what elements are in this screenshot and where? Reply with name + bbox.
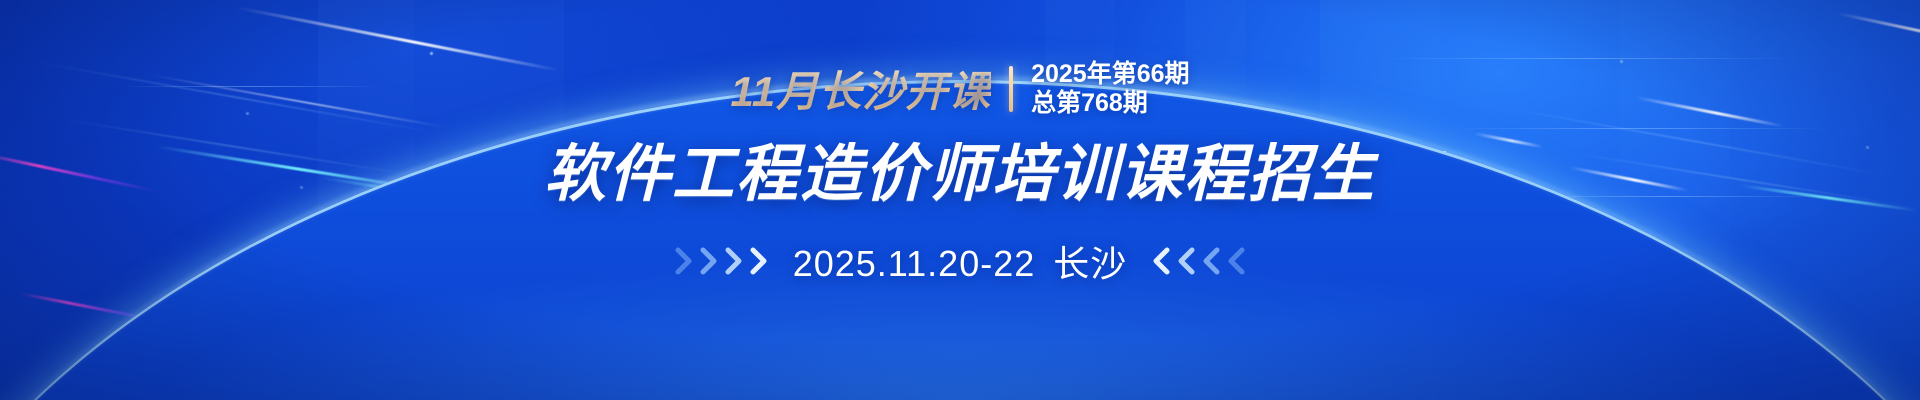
course-promo-banner: # 11月长沙开课 2025年第66期 总第768期 软件工程造价师培训课程招生 bbox=[0, 0, 1920, 400]
event-date: 2025.11.20-22 bbox=[793, 243, 1036, 284]
chevrons-right-icon bbox=[674, 246, 771, 276]
issue-line-2: 总第768期 bbox=[1031, 89, 1189, 117]
issue-info: 2025年第66期 总第768期 bbox=[1031, 60, 1189, 117]
event-date-location: 2025.11.20-22长沙 bbox=[793, 235, 1128, 287]
banner-content: 11月长沙开课 2025年第66期 总第768期 软件工程造价师培训课程招生 2… bbox=[0, 0, 1920, 400]
banner-footer-row: 2025.11.20-22长沙 bbox=[674, 235, 1247, 287]
kicker-text: 11月长沙开课 bbox=[730, 58, 991, 119]
banner-kicker-row: 11月长沙开课 2025年第66期 总第768期 bbox=[730, 58, 1189, 119]
vertical-divider bbox=[1009, 66, 1013, 112]
chevrons-left-icon bbox=[1149, 246, 1246, 276]
banner-headline: 软件工程造价师培训课程招生 bbox=[544, 123, 1376, 213]
event-city: 长沙 bbox=[1053, 243, 1127, 284]
issue-line-1: 2025年第66期 bbox=[1031, 60, 1189, 88]
